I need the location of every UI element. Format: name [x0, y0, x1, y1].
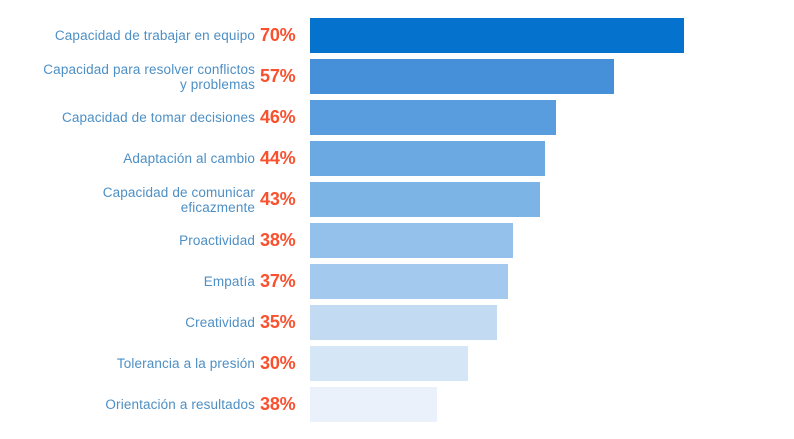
bar[interactable] [310, 182, 540, 217]
bar[interactable] [310, 100, 556, 135]
bar-value-label: 38% [255, 394, 310, 415]
horizontal-bar-chart: Capacidad de trabajar en equipo70%Capaci… [0, 0, 794, 439]
chart-row: Tolerancia a la presión30% [0, 346, 794, 381]
bar-category-label: Proactividad [0, 233, 255, 248]
bar-category-label: Capacidad de tomar decisiones [0, 110, 255, 125]
bar-value-label: 30% [255, 353, 310, 374]
bar-value-label: 35% [255, 312, 310, 333]
bar[interactable] [310, 305, 497, 340]
chart-row: Adaptación al cambio44% [0, 141, 794, 176]
bar-category-label: Creatividad [0, 315, 255, 330]
bar-track [310, 305, 794, 340]
bar-track [310, 387, 794, 422]
bar-category-label: Orientación a resultados [0, 397, 255, 412]
chart-row: Capacidad de trabajar en equipo70% [0, 18, 794, 53]
bar[interactable] [310, 346, 468, 381]
bar-track [310, 182, 794, 217]
chart-row: Capacidad de comunicar eficazmente43% [0, 182, 794, 217]
bar-value-label: 37% [255, 271, 310, 292]
chart-row: Capacidad para resolver conflictos y pro… [0, 59, 794, 94]
bar[interactable] [310, 18, 684, 53]
bar-track [310, 59, 794, 94]
bar-rows-container: Capacidad de trabajar en equipo70%Capaci… [0, 18, 794, 422]
chart-row: Orientación a resultados38% [0, 387, 794, 422]
bar-track [310, 264, 794, 299]
chart-row: Creatividad35% [0, 305, 794, 340]
bar-track [310, 223, 794, 258]
chart-row: Capacidad de tomar decisiones46% [0, 100, 794, 135]
chart-row: Empatía37% [0, 264, 794, 299]
bar[interactable] [310, 264, 508, 299]
bar-category-label: Capacidad de trabajar en equipo [0, 28, 255, 43]
bar[interactable] [310, 223, 513, 258]
bar-value-label: 57% [255, 66, 310, 87]
bar-category-label: Adaptación al cambio [0, 151, 255, 166]
bar-track [310, 346, 794, 381]
bar-value-label: 70% [255, 25, 310, 46]
bar[interactable] [310, 141, 545, 176]
bar-category-label: Empatía [0, 274, 255, 289]
bar-value-label: 44% [255, 148, 310, 169]
bar-track [310, 100, 794, 135]
bar-value-label: 46% [255, 107, 310, 128]
bar-track [310, 141, 794, 176]
bar-category-label: Capacidad de comunicar eficazmente [0, 185, 255, 215]
bar-value-label: 43% [255, 189, 310, 210]
bar-track [310, 18, 794, 53]
bar[interactable] [310, 387, 437, 422]
bar-value-label: 38% [255, 230, 310, 251]
bar[interactable] [310, 59, 614, 94]
bar-category-label: Tolerancia a la presión [0, 356, 255, 371]
bar-category-label: Capacidad para resolver conflictos y pro… [0, 62, 255, 92]
chart-row: Proactividad38% [0, 223, 794, 258]
